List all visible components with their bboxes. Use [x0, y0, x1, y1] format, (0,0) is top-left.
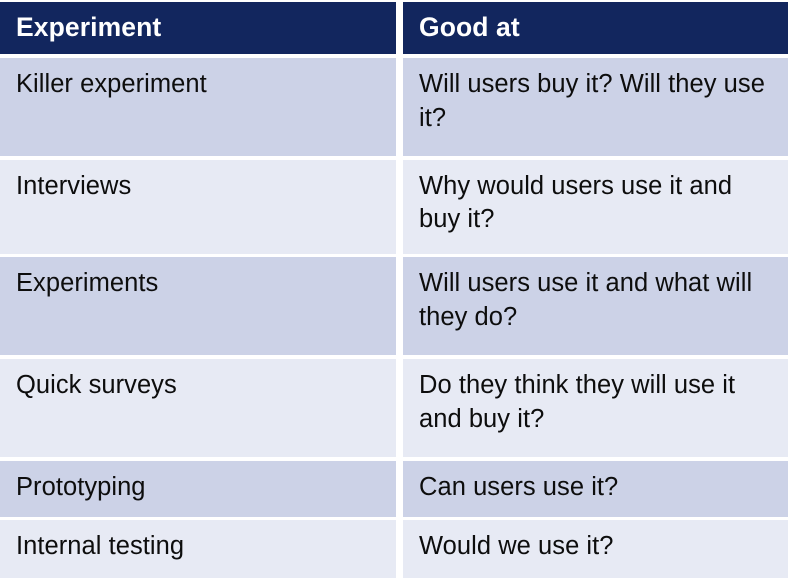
cell-good-at: Would we use it? [403, 520, 788, 578]
slide-canvas: Experiment Good at Killer experiment Wil… [0, 0, 792, 578]
cell-good-at: Why would users use it and buy it? [403, 160, 788, 254]
table-row: Experiments Will users use it and what w… [0, 257, 792, 355]
cell-experiment-text: Quick surveys [16, 369, 384, 403]
column-header-good-at-label: Good at [419, 13, 788, 42]
table-row: Killer experiment Will users buy it? Wil… [0, 58, 792, 156]
cell-experiment: Quick surveys [0, 359, 396, 457]
cell-good-at-text: Will users buy it? Will they use it? [419, 68, 776, 136]
cell-experiment: Experiments [0, 257, 396, 355]
cell-good-at: Will users use it and what will they do? [403, 257, 788, 355]
cell-experiment: Prototyping [0, 461, 396, 517]
cell-good-at-text: Why would users use it and buy it? [419, 170, 776, 238]
cell-experiment-text: Experiments [16, 267, 384, 301]
cell-experiment: Interviews [0, 160, 396, 254]
table-row: Internal testing Would we use it? [0, 520, 792, 578]
table-row: Quick surveys Do they think they will us… [0, 359, 792, 457]
cell-good-at: Can users use it? [403, 461, 788, 517]
comparison-table: Experiment Good at Killer experiment Wil… [0, 0, 792, 578]
column-header-experiment: Experiment [0, 2, 396, 54]
cell-good-at-text: Would we use it? [419, 530, 776, 564]
cell-good-at-text: Will users use it and what will they do? [419, 267, 776, 335]
cell-good-at: Do they think they will use it and buy i… [403, 359, 788, 457]
column-header-experiment-label: Experiment [16, 13, 396, 42]
cell-experiment-text: Killer experiment [16, 68, 384, 102]
cell-good-at: Will users buy it? Will they use it? [403, 58, 788, 156]
cell-good-at-text: Can users use it? [419, 471, 776, 505]
cell-experiment-text: Prototyping [16, 471, 384, 505]
cell-experiment-text: Interviews [16, 170, 384, 204]
table-header-row: Experiment Good at [0, 0, 792, 54]
cell-experiment: Internal testing [0, 520, 396, 578]
cell-experiment: Killer experiment [0, 58, 396, 156]
table-row: Prototyping Can users use it? [0, 461, 792, 517]
cell-experiment-text: Internal testing [16, 530, 384, 564]
cell-good-at-text: Do they think they will use it and buy i… [419, 369, 776, 437]
column-header-good-at: Good at [403, 2, 788, 54]
table-row: Interviews Why would users use it and bu… [0, 160, 792, 254]
